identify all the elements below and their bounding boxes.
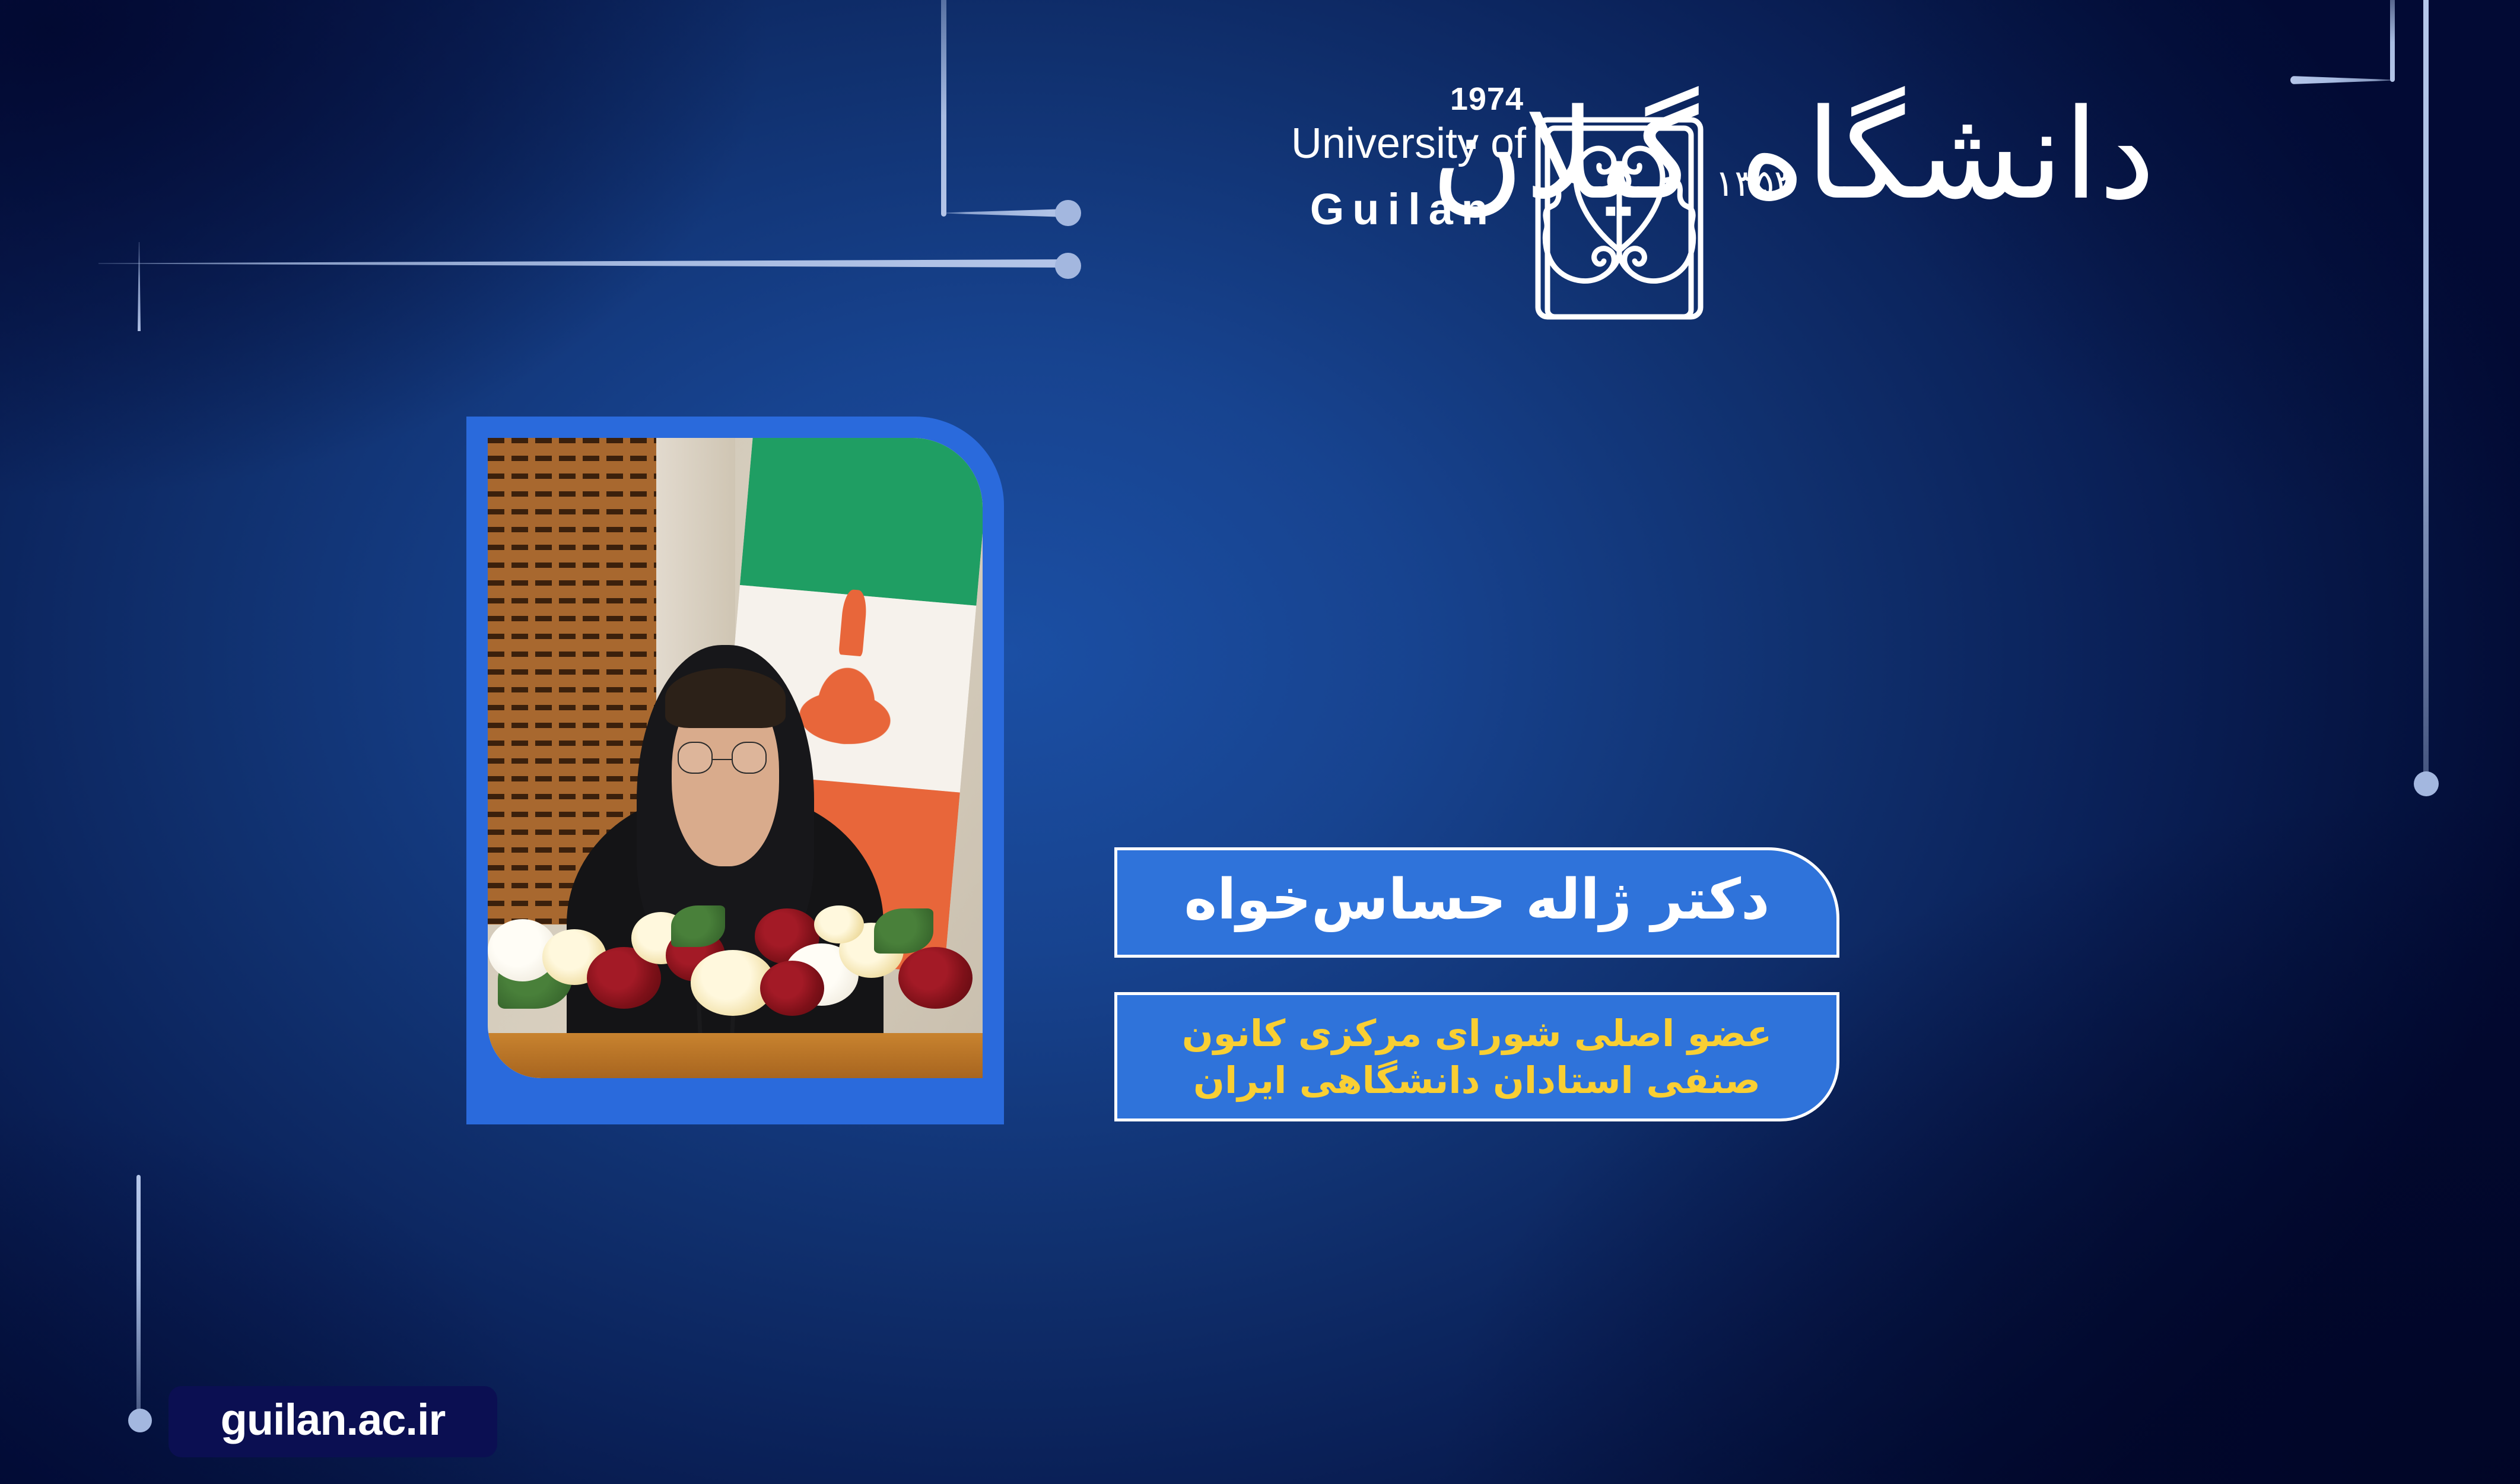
decoration-dot-footer: [128, 1409, 152, 1432]
person-glasses-bridge: [713, 759, 732, 760]
person-glasses-left: [678, 742, 713, 774]
person-name-text: دکتر ژاله حساس‌خواه: [1184, 872, 1770, 933]
website-url-text: guilan.ac.ir: [221, 1398, 446, 1445]
flag-green-band: [740, 438, 983, 606]
flower-rose: [898, 947, 973, 1009]
flower-leaf: [671, 905, 726, 947]
person-role-badge: عضو اصلی شورای مرکزی کانون صنفی استادان …: [1114, 992, 1839, 1121]
flower-leaf: [874, 908, 933, 954]
portrait-photo-frame: [466, 417, 1004, 1124]
logo-persian-block: دانشگاه گیلان ۱۳۵۳: [1709, 77, 2148, 320]
decoration-vline-right-short: [2390, 0, 2395, 82]
decoration-vline-top-center: [941, 0, 946, 217]
website-badge[interactable]: guilan.ac.ir: [169, 1386, 497, 1457]
photo-flower-arrangement: [488, 905, 983, 1078]
decoration-dot-right: [2414, 771, 2439, 796]
logo-founding-year-persian: ۱۳۵۳: [1715, 165, 1794, 202]
poster-canvas: 1974 University of Guilan: [0, 0, 2520, 1484]
university-logo: 1974 University of Guilan: [1222, 83, 2148, 320]
decoration-dot-long-end: [1055, 253, 1081, 279]
decoration-dot-upper: [1055, 200, 1081, 226]
flower-cream: [814, 905, 863, 943]
decoration-vline-left-lower: [136, 1175, 141, 1418]
person-glasses-right: [732, 742, 767, 774]
portrait-photo: [488, 438, 983, 1078]
decoration-vline-right-long: [2423, 0, 2429, 778]
photo-podium-desk: [488, 1033, 983, 1078]
flower-rose: [760, 961, 824, 1016]
person-hair: [665, 668, 786, 728]
person-role-text: عضو اصلی شورای مرکزی کانون صنفی استادان …: [1117, 1010, 1836, 1104]
person-name-badge: دکتر ژاله حساس‌خواه: [1114, 847, 1839, 958]
